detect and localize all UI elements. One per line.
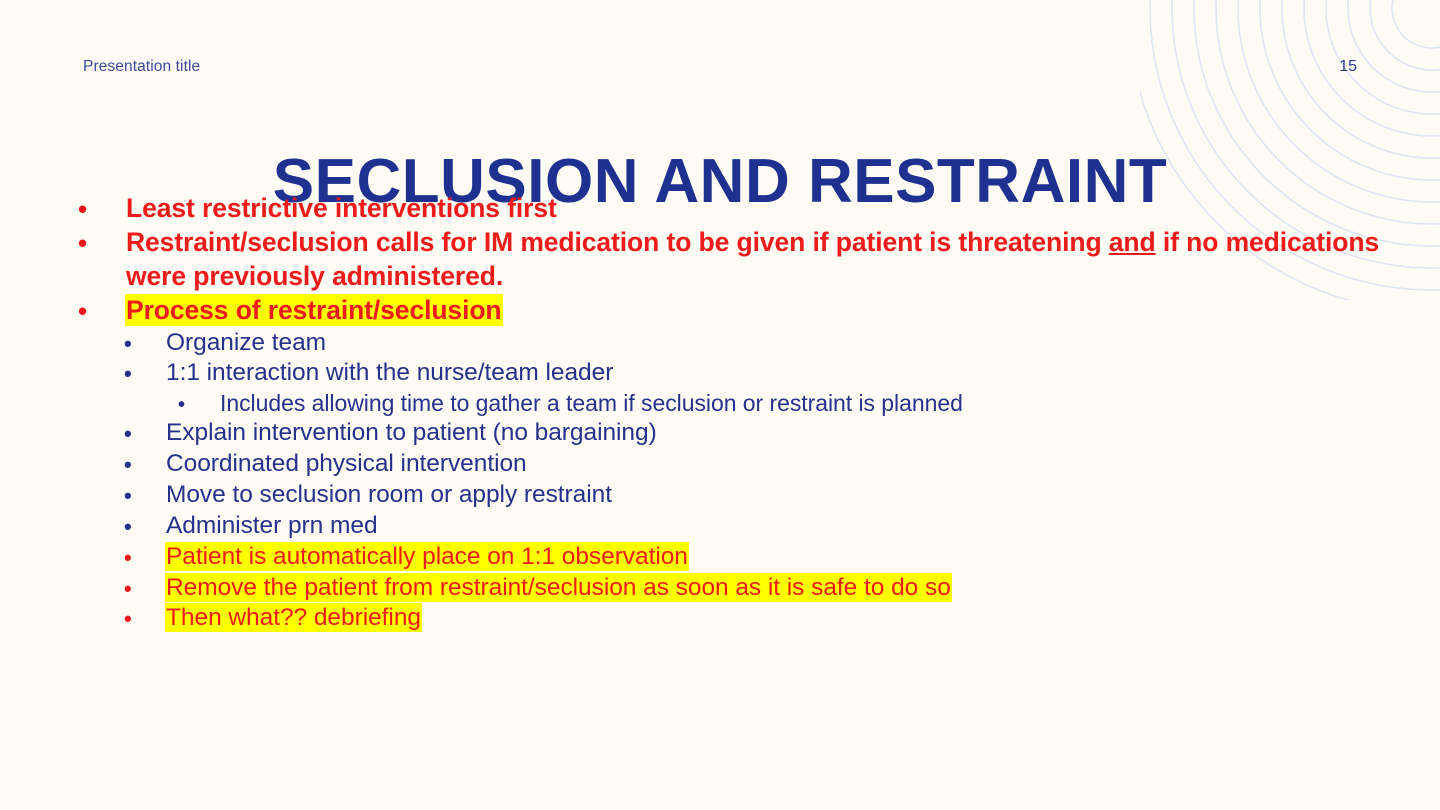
bullet-text: Coordinated physical intervention [166, 449, 1408, 480]
bullet-item-level2: •1:1 interaction with the nurse/team lea… [124, 358, 1408, 389]
bullet-item-level2: •Explain intervention to patient (no bar… [124, 418, 1408, 449]
bullet-text-highlighted: Patient is automatically place on 1:1 ob… [166, 543, 688, 570]
bullet-marker-icon: • [178, 389, 220, 415]
bullet-marker-icon: • [124, 418, 166, 445]
bullet-marker-icon: • [124, 328, 166, 355]
slide-canvas: Presentation title 15 SECLUSION AND REST… [0, 0, 1440, 810]
bullet-text-plain: Explain intervention to patient (no barg… [166, 419, 657, 446]
bullet-text-plain: Administer prn med [166, 512, 378, 539]
bullet-item-level1: •Least restrictive interventions first [78, 192, 1408, 226]
bullet-text: Organize team [166, 328, 1408, 359]
bullet-marker-icon: • [124, 573, 166, 600]
bullet-text-plain: Includes allowing time to gather a team … [220, 390, 963, 416]
bullet-item-level2: •Remove the patient from restraint/seclu… [124, 573, 1408, 604]
bullet-text-underlined: and [1109, 227, 1156, 257]
bullet-text: Restraint/seclusion calls for IM medicat… [126, 226, 1408, 294]
bullet-item-level2: •Coordinated physical intervention [124, 449, 1408, 480]
bullet-text-segment: Restraint/seclusion calls for IM medicat… [126, 227, 1109, 257]
bullet-marker-icon: • [124, 603, 166, 630]
bullet-item-level3: •Includes allowing time to gather a team… [178, 389, 1408, 418]
bullet-text: Then what?? debriefing [166, 603, 1408, 634]
bullet-text: Move to seclusion room or apply restrain… [166, 480, 1408, 511]
bullet-text-plain: Coordinated physical intervention [166, 450, 527, 477]
presentation-title: Presentation title [83, 58, 200, 76]
bullet-marker-icon: • [124, 480, 166, 507]
bullet-text: Patient is automatically place on 1:1 ob… [166, 542, 1408, 573]
bullet-text-highlighted: Process of restraint/seclusion [126, 295, 502, 325]
bullet-text: Administer prn med [166, 511, 1408, 542]
bullet-marker-icon: • [124, 542, 166, 569]
bullet-text: Process of restraint/seclusion [126, 294, 1408, 328]
bullet-text: Least restrictive interventions first [126, 192, 1408, 226]
bullet-marker-icon: • [78, 226, 126, 256]
bullet-item-level2: •Administer prn med [124, 511, 1408, 542]
bullet-item-level2: •Then what?? debriefing [124, 603, 1408, 634]
bullet-text: 1:1 interaction with the nurse/team lead… [166, 358, 1408, 389]
bullet-item-level2: •Patient is automatically place on 1:1 o… [124, 542, 1408, 573]
bullet-marker-icon: • [124, 511, 166, 538]
bullet-text-highlighted: Then what?? debriefing [166, 604, 421, 631]
bullet-marker-icon: • [124, 449, 166, 476]
bullet-item-level1: •Restraint/seclusion calls for IM medica… [78, 226, 1408, 294]
bullet-text-plain: Organize team [166, 329, 326, 356]
bullet-list: •Least restrictive interventions first•R… [78, 192, 1408, 634]
page-number: 15 [1339, 58, 1357, 76]
bullet-text-plain: 1:1 interaction with the nurse/team lead… [166, 359, 613, 386]
bullet-text: Remove the patient from restraint/seclus… [166, 573, 1408, 604]
bullet-marker-icon: • [78, 294, 126, 324]
bullet-text: Includes allowing time to gather a team … [220, 389, 1408, 418]
bullet-text: Explain intervention to patient (no barg… [166, 418, 1408, 449]
bullet-text-highlighted: Remove the patient from restraint/seclus… [166, 574, 951, 601]
bullet-text-plain: Move to seclusion room or apply restrain… [166, 481, 612, 508]
bullet-item-level2: •Organize team [124, 328, 1408, 359]
bullet-item-level1: •Process of restraint/seclusion [78, 294, 1408, 328]
bullet-text-plain: Least restrictive interventions first [126, 193, 557, 223]
bullet-marker-icon: • [78, 192, 126, 222]
bullet-marker-icon: • [124, 358, 166, 385]
slide-header: Presentation title 15 [83, 58, 1357, 84]
bullet-item-level2: •Move to seclusion room or apply restrai… [124, 480, 1408, 511]
